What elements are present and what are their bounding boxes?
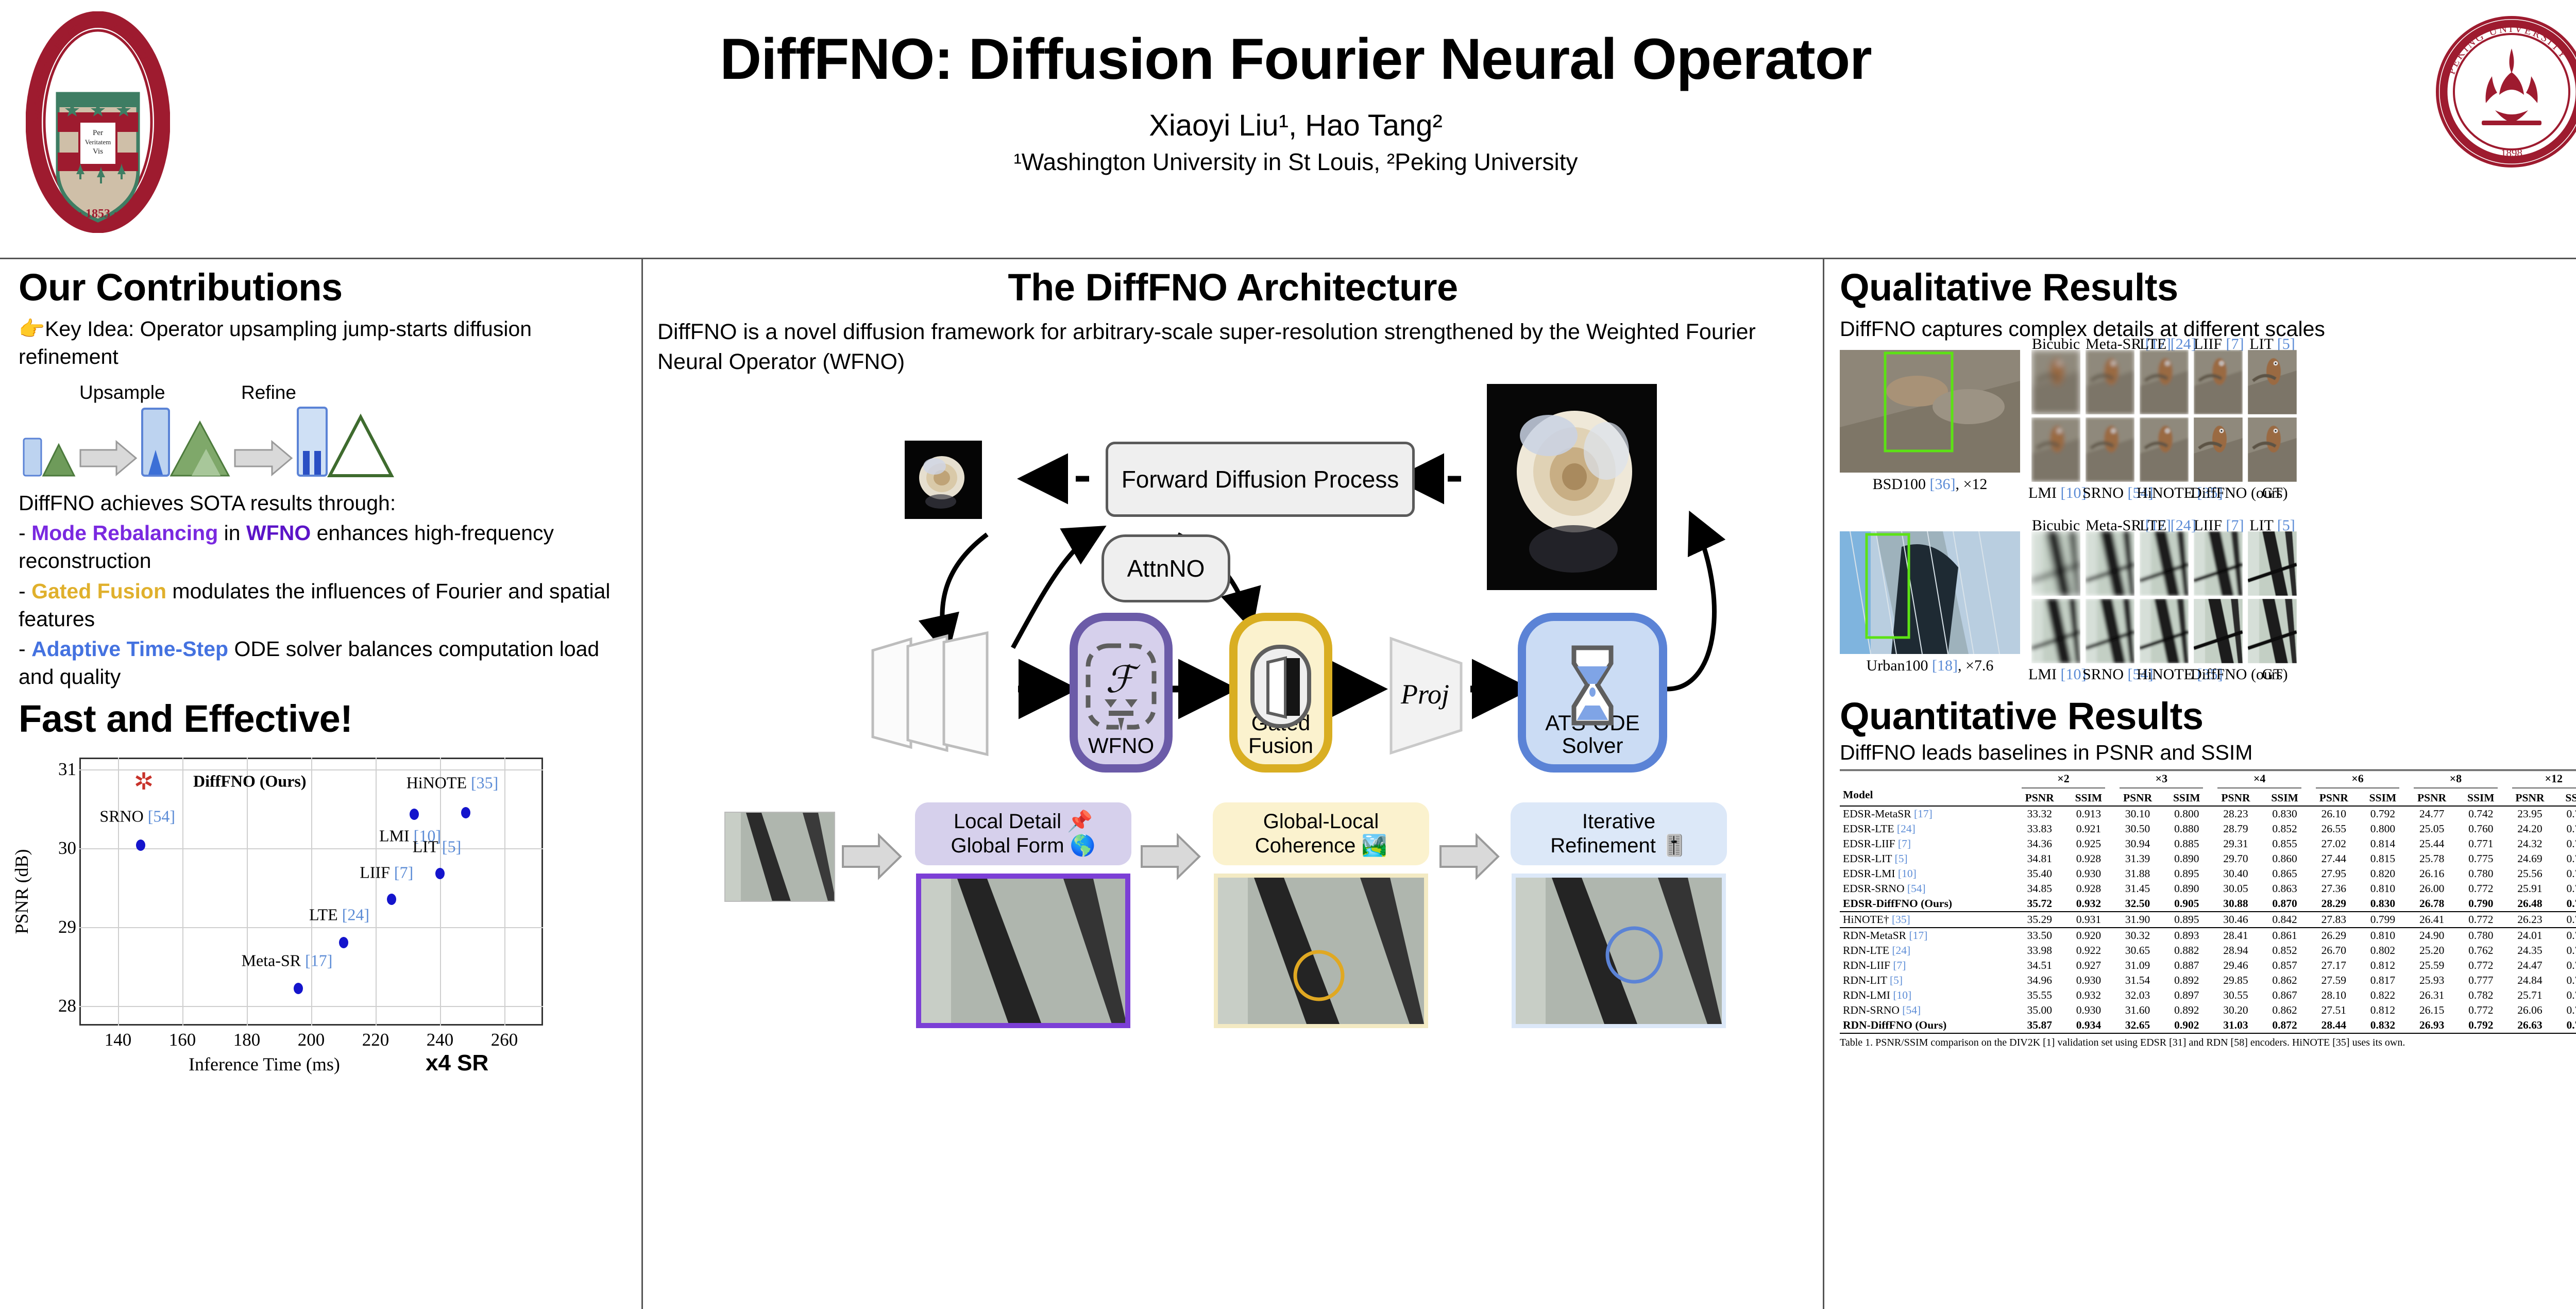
table-cell-value: 31.60 — [2112, 1003, 2163, 1018]
table-cell-value: 27.02 — [2309, 836, 2359, 851]
table-cell-value: 0.865 — [2261, 866, 2308, 881]
qualitative-heading: Qualitative Results — [1840, 268, 2576, 307]
table-cell-value: 25.05 — [2406, 821, 2457, 836]
table-cell-value: 0.861 — [2261, 928, 2308, 943]
table-cell-value: 30.65 — [2112, 943, 2163, 958]
table-cell-value: 24.84 — [2505, 973, 2555, 988]
table-cell-value: 0.832 — [2359, 1018, 2406, 1033]
chart-gridline-v — [247, 758, 248, 1026]
table-row: EDSR-DiffFNO (Ours)35.720.93232.500.9053… — [1840, 896, 2576, 912]
table-cell-value: 0.820 — [2359, 866, 2406, 881]
caption-iterative-refinement: Iterative Refinement 🎚️ — [1511, 802, 1727, 865]
table-cell-model: RDN-LTE [24] — [1840, 943, 2014, 958]
table-header-scale: ×2 — [2014, 770, 2112, 791]
qualitative-patch-label: DiffFNO (ours) — [2191, 666, 2246, 683]
table-cell-value: 27.59 — [2309, 973, 2359, 988]
architecture-diagram: Forward Diffusion Process AttnNO — [657, 380, 1808, 936]
chart-gridline-v — [504, 758, 505, 1026]
table-cell-value: 25.91 — [2505, 881, 2555, 896]
qualitative-patch-label: LMI [10] — [2028, 666, 2083, 683]
table-cell-value: 0.814 — [2359, 836, 2406, 851]
svg-text:Veritatem: Veritatem — [85, 138, 111, 146]
table-cell-value: 25.20 — [2406, 943, 2457, 958]
chart-point-label: LTE [24] — [309, 905, 369, 925]
qualitative-patch-label: HiNOTE [35] — [2137, 484, 2192, 502]
table-cell-model: RDN-LMI [10] — [1840, 988, 2014, 1003]
qualitative-patch-image — [2248, 417, 2297, 482]
table-cell-value: 35.40 — [2014, 866, 2065, 881]
table-cell-value: 27.83 — [2309, 912, 2359, 928]
qualitative-patch-image — [2194, 417, 2243, 482]
bullet-1-mid: in — [218, 521, 246, 545]
table-cell-value: 28.94 — [2210, 943, 2261, 958]
table-cell-value: 33.98 — [2014, 943, 2065, 958]
chart-corner-note: x4 SR — [426, 1050, 488, 1076]
table-cell-value: 29.31 — [2210, 836, 2261, 851]
qualitative-patch-label: DiffFNO (ours) — [2191, 484, 2246, 502]
qualitative-patch-image — [2194, 350, 2243, 414]
caption-local-detail-global-form: Local Detail 📌 Global Form 🌎 — [915, 802, 1131, 865]
qualitative-patch-label: HiNOTE [35] — [2137, 666, 2192, 683]
table-header-metric: SSIM — [2065, 791, 2112, 806]
table-cell-value: 0.799 — [2359, 912, 2406, 928]
table-cell-value: 25.59 — [2406, 958, 2457, 973]
keyword-mode-rebalancing: Mode Rebalancing — [31, 521, 218, 545]
table-cell-value: 0.792 — [2457, 1018, 2504, 1033]
chart-gridline-v — [440, 758, 441, 1026]
table-cell-value: 34.85 — [2014, 881, 2065, 896]
qualitative-patch-image — [2194, 531, 2243, 596]
svg-text:Vis: Vis — [93, 147, 103, 156]
chart-point-label: Meta-SR [17] — [242, 951, 333, 970]
qualitative-patch-image — [2140, 531, 2189, 596]
qualitative-patch-image — [2140, 350, 2189, 414]
chart-x-tick: 220 — [362, 1030, 389, 1050]
chart-y-tick: 29 — [58, 917, 76, 937]
architecture-lead-text: DiffFNO is a novel diffusion framework f… — [657, 317, 1808, 377]
table-header-scale: ×3 — [2112, 770, 2210, 791]
chart-data-point — [461, 807, 470, 818]
table-header-metric: PSNR — [2406, 791, 2457, 806]
table-cell-value: 0.880 — [2163, 821, 2210, 836]
table-cell-value: 0.852 — [2261, 821, 2308, 836]
table-cell-value: 0.930 — [2065, 973, 2112, 988]
qualitative-main-image — [1840, 531, 2020, 654]
sota-lead-text: DiffFNO achieves SOTA results through: — [19, 489, 626, 517]
table-cell-value: 0.772 — [2457, 912, 2504, 928]
table-cell-value: 24.01 — [2505, 928, 2555, 943]
table-cell-model: RDN-LIT [5] — [1840, 973, 2014, 988]
table-cell-value: 0.812 — [2359, 1003, 2406, 1018]
table-cell-value: 30.50 — [2112, 821, 2163, 836]
table-cell-value: 24.32 — [2505, 836, 2555, 851]
forward-diffusion-box[interactable]: Forward Diffusion Process — [1106, 442, 1415, 517]
table-cell-value: 24.69 — [2505, 851, 2555, 866]
keyword-adaptive-time-step: Adaptive Time-Step — [31, 637, 228, 661]
attnno-label: AttnNO — [1127, 555, 1205, 582]
table-cell-value: 0.742 — [2457, 806, 2504, 821]
table-cell-value: 34.81 — [2014, 851, 2065, 866]
table-cell-model: EDSR-SRNO [54] — [1840, 881, 2014, 896]
table-cell-value: 0.752 — [2555, 988, 2576, 1003]
table-cell-value: 0.745 — [2555, 851, 2576, 866]
chart-x-tick: 180 — [233, 1030, 261, 1050]
table-cell-value: 0.890 — [2163, 881, 2210, 896]
table-cell-value: 26.00 — [2406, 881, 2457, 896]
upsample-label: Upsample — [79, 382, 165, 404]
table-row: RDN-LIT [5]34.960.93031.540.89229.850.86… — [1840, 973, 2576, 988]
noisy-image-thumbnail — [905, 441, 982, 519]
chart-data-point — [294, 983, 303, 994]
table-cell-model: EDSR-DiffFNO (Ours) — [1840, 896, 2014, 912]
table-row: RDN-MetaSR [17]33.500.92030.320.89328.41… — [1840, 928, 2576, 943]
table-cell-value: 24.20 — [2505, 821, 2555, 836]
table-cell-value: 25.93 — [2406, 973, 2457, 988]
table-cell-value: 26.31 — [2406, 988, 2457, 1003]
table-row: EDSR-SRNO [54]34.850.92831.450.89030.050… — [1840, 881, 2576, 896]
table-cell-value: 0.792 — [2359, 806, 2406, 821]
table-cell-value: 0.893 — [2163, 928, 2210, 943]
key-idea-label: Key Idea: Operator upsampling jump-start… — [19, 317, 532, 368]
final-output-patch-image — [1512, 874, 1726, 1028]
table-header-scale: ×8 — [2406, 770, 2504, 791]
wfno-output-patch-image — [916, 874, 1130, 1028]
qualitative-patch-image — [2140, 417, 2189, 482]
chart-point-label: SRNO [54] — [99, 807, 175, 826]
poster-columns: Our Contributions 👉Key Idea: Operator up… — [0, 259, 2576, 1309]
table-cell-model: EDSR-LIT [5] — [1840, 851, 2014, 866]
table-cell-value: 30.20 — [2210, 1003, 2261, 1018]
table-cell-value: 0.772 — [2457, 1003, 2504, 1018]
table-cell-value: 28.41 — [2210, 928, 2261, 943]
table-cell-value: 31.09 — [2112, 958, 2163, 973]
table-cell-value: 29.46 — [2210, 958, 2261, 973]
poster-header: Per Veritatem Vis WASHINGTON UNIVERSITY … — [0, 0, 2576, 258]
table-cell-value: 0.732 — [2555, 943, 2576, 958]
table-header-metric: PSNR — [2210, 791, 2261, 806]
qualitative-patch-image — [2248, 531, 2297, 596]
svg-text:1898: 1898 — [2501, 147, 2522, 159]
table-cell-value: 0.932 — [2065, 896, 2112, 912]
svg-text:· 1853 ·: · 1853 · — [78, 207, 117, 221]
table-cell-value: 25.78 — [2406, 851, 2457, 866]
table-cell-value: 0.897 — [2163, 988, 2210, 1003]
table-cell-value: 29.85 — [2210, 973, 2261, 988]
table-cell-value: 0.890 — [2163, 851, 2210, 866]
caption-2-line2: Refinement 🎚️ — [1550, 834, 1687, 857]
chart-data-point — [136, 840, 145, 851]
table-header-scale: ×12 — [2505, 770, 2576, 791]
table-cell-value: 0.760 — [2457, 821, 2504, 836]
table-cell-value: 0.800 — [2359, 821, 2406, 836]
column-architecture: The DiffFNO Architecture DiffFNO is a no… — [643, 259, 1823, 1309]
table-cell-value: 0.780 — [2457, 866, 2504, 881]
chart-x-axis-label: Inference Time (ms) — [189, 1053, 340, 1075]
table-cell-model: EDSR-LMI [10] — [1840, 866, 2014, 881]
table-cell-value: 0.928 — [2065, 851, 2112, 866]
table-caption: Table 1. PSNR/SSIM comparison on the DIV… — [1840, 1037, 2576, 1049]
table-cell-value: 0.932 — [2065, 988, 2112, 1003]
washington-university-seal-icon: Per Veritatem Vis WASHINGTON UNIVERSITY … — [26, 11, 170, 233]
chart-x-tick: 240 — [427, 1030, 454, 1050]
table-cell-value: 0.760 — [2555, 881, 2576, 896]
table-cell-value: 30.46 — [2210, 912, 2261, 928]
forward-diffusion-label: Forward Diffusion Process — [1122, 465, 1399, 493]
chart-point-label: LIT [5] — [413, 837, 461, 856]
table-cell-value: 0.790 — [2555, 928, 2576, 943]
table-cell-value: 28.79 — [2210, 821, 2261, 836]
table-cell-value: 0.810 — [2359, 881, 2406, 896]
qualitative-patch-image — [2031, 417, 2080, 482]
table-cell-value: 0.895 — [2163, 866, 2210, 881]
table-cell-value: 0.905 — [2163, 896, 2210, 912]
table-cell-model: HiNOTE† [35] — [1840, 912, 2014, 928]
table-header-metric: PSNR — [2505, 791, 2555, 806]
table-cell-value: 35.55 — [2014, 988, 2065, 1003]
qualitative-patch-image — [2031, 350, 2080, 414]
table-cell-model: RDN-LIIF [7] — [1840, 958, 2014, 973]
fourier-transform-icon: ℱ — [1085, 643, 1157, 733]
chart-data-point — [435, 868, 445, 879]
table-cell-value: 0.862 — [2261, 973, 2308, 988]
table-cell-value: 26.23 — [2505, 912, 2555, 928]
chart-point-label: LIIF [7] — [360, 863, 413, 882]
table-cell-value: 32.03 — [2112, 988, 2163, 1003]
table-cell-value: 0.802 — [2359, 943, 2406, 958]
table-cell-value: 30.88 — [2210, 896, 2261, 912]
chart-gridline-v — [376, 758, 377, 1026]
table-cell-value: 0.887 — [2163, 958, 2210, 973]
column-contributions: Our Contributions 👉Key Idea: Operator up… — [0, 259, 641, 1309]
refine-label: Refine — [241, 382, 296, 404]
table-cell-model: RDN-DiffFNO (Ours) — [1840, 1018, 2014, 1033]
table-cell-value: 0.852 — [2261, 943, 2308, 958]
table-header-metric: PSNR — [2112, 791, 2163, 806]
table-cell-value: 0.934 — [2065, 1018, 2112, 1033]
table-cell-value: 24.47 — [2505, 958, 2555, 973]
table-cell-value: 0.892 — [2163, 1003, 2210, 1018]
table-cell-value: 33.50 — [2014, 928, 2065, 943]
table-header-model: Model — [1840, 770, 2014, 807]
table-row: EDSR-LIIF [7]34.360.92530.940.88529.310.… — [1840, 836, 2576, 851]
table-header-metric: SSIM — [2163, 791, 2210, 806]
table-cell-value: 0.742 — [2555, 958, 2576, 973]
wfno-box[interactable]: ℱ WFNO — [1070, 613, 1173, 773]
caption-global-local-coherence: Global-Local Coherence 🏞️ — [1213, 802, 1429, 865]
hourglass-icon — [1562, 643, 1623, 733]
table-cell-value: 0.925 — [2065, 836, 2112, 851]
table-row: RDN-LMI [10]35.550.93232.030.89730.550.8… — [1840, 988, 2576, 1003]
svg-text:Per: Per — [93, 129, 103, 137]
table-cell-value: 26.16 — [2406, 866, 2457, 881]
chart-data-point — [410, 809, 419, 820]
qualitative-patch-image — [2031, 599, 2080, 663]
table-cell-value: 0.736 — [2555, 821, 2576, 836]
qualitative-patch-image — [2086, 417, 2134, 482]
ats-ode-line2: Solver — [1562, 733, 1623, 758]
table-row: RDN-SRNO [54]35.000.93031.600.89230.200.… — [1840, 1003, 2576, 1018]
table-cell-value: 0.842 — [2261, 912, 2308, 928]
table-cell-value: 35.00 — [2014, 1003, 2065, 1018]
table-cell-value: 30.05 — [2210, 881, 2261, 896]
table-cell-value: 0.800 — [2163, 806, 2210, 821]
table-cell-value: 26.48 — [2505, 896, 2555, 912]
table-cell-value: 0.772 — [2457, 958, 2504, 973]
gated-fusion-box[interactable]: Gated Fusion — [1229, 613, 1332, 773]
table-cell-value: 26.10 — [2309, 806, 2359, 821]
table-cell-value: 0.882 — [2163, 943, 2210, 958]
table-cell-value: 34.96 — [2014, 973, 2065, 988]
chart-gridline-v — [182, 758, 183, 1026]
proj-box[interactable]: Proj — [1374, 627, 1477, 761]
bullet-adaptive-time-step: - Adaptive Time-Step ODE solver balances… — [19, 635, 626, 691]
table-cell-value: 0.743 — [2555, 836, 2576, 851]
table-cell-value: 26.63 — [2505, 1018, 2555, 1033]
table-cell-value: 0.772 — [2457, 881, 2504, 896]
table-cell-value: 27.95 — [2309, 866, 2359, 881]
table-cell-model: RDN-SRNO [54] — [1840, 1003, 2014, 1018]
chart-x-tick: 260 — [491, 1030, 518, 1050]
table-cell-value: 0.782 — [2457, 988, 2504, 1003]
encoder-feature-stack-icon — [863, 630, 1018, 759]
quantitative-results-table: Model×2×3×4×6×8×12PSNRSSIMPSNRSSIMPSNRSS… — [1840, 769, 2576, 1034]
qualitative-patch-image — [2248, 350, 2297, 414]
ats-ode-solver-box[interactable]: ATS-ODE Solver — [1518, 613, 1667, 773]
chart-y-tick: 28 — [58, 996, 76, 1016]
table-cell-value: 0.747 — [2555, 973, 2576, 988]
table-cell-value: 0.860 — [2261, 851, 2308, 866]
architecture-heading: The DiffFNO Architecture — [657, 268, 1808, 307]
table-cell-value: 26.41 — [2406, 912, 2457, 928]
qualitative-main-caption: BSD100 [36], ×12 — [1840, 476, 2020, 493]
wfno-label: WFNO — [1088, 734, 1154, 757]
table-cell-value: 0.921 — [2065, 821, 2112, 836]
table-cell-value: 0.902 — [2163, 1018, 2210, 1033]
title-block: DiffFNO: Diffusion Fourier Neural Operat… — [191, 28, 2401, 176]
chart-point-label: HiNOTE [35] — [406, 774, 499, 793]
qualitative-patch-label: GT — [2245, 666, 2300, 683]
table-header-metric: SSIM — [2457, 791, 2504, 806]
table-cell-value: 0.862 — [2261, 1003, 2308, 1018]
qualitative-patch-image — [2031, 531, 2080, 596]
table-cell-value: 28.23 — [2210, 806, 2261, 821]
psnr-vs-time-chart: 28293031140160180200220240260✲DiffFNO (O… — [19, 743, 606, 1083]
table-cell-value: 0.777 — [2457, 973, 2504, 988]
table-cell-value: 27.17 — [2309, 958, 2359, 973]
page-title: DiffFNO: Diffusion Fourier Neural Operat… — [191, 28, 2401, 91]
table-cell-value: 28.29 — [2309, 896, 2359, 912]
table-cell-value: 0.922 — [2065, 943, 2112, 958]
bullet-dash-1: - — [19, 521, 26, 545]
table-cell-value: 0.775 — [2555, 896, 2576, 912]
qualitative-patch-image — [2140, 599, 2189, 663]
table-row: RDN-DiffFNO (Ours)35.870.93432.650.90231… — [1840, 1018, 2576, 1033]
table-cell-value: 0.857 — [2261, 958, 2308, 973]
gated-fusion-output-patch-image — [1214, 874, 1428, 1028]
table-cell-value: 0.720 — [2555, 806, 2576, 821]
table-cell-value: 30.40 — [2210, 866, 2261, 881]
table-cell-value: 0.867 — [2261, 988, 2308, 1003]
proj-label: Proj — [1401, 678, 1449, 710]
table-cell-value: 25.71 — [2505, 988, 2555, 1003]
bullet-dash-2: - — [19, 579, 26, 603]
chart-x-tick: 200 — [298, 1030, 325, 1050]
table-cell-value: 0.892 — [2163, 973, 2210, 988]
peking-university-seal-icon: PEKING UNIVERSITY 1898 — [2434, 14, 2576, 169]
caption-1-line1: Global-Local — [1263, 810, 1379, 833]
chart-ours-star-icon: ✲ — [134, 767, 154, 795]
table-cell-value: 0.895 — [2163, 912, 2210, 928]
ground-truth-image-thumbnail — [1487, 384, 1657, 590]
table-cell-value: 0.780 — [2457, 928, 2504, 943]
table-cell-value: 0.913 — [2065, 806, 2112, 821]
caption-1-line2: Coherence 🏞️ — [1255, 834, 1387, 857]
table-cell-value: 30.94 — [2112, 836, 2163, 851]
table-cell-value: 28.44 — [2309, 1018, 2359, 1033]
table-row: HiNOTE† [35]35.290.93131.900.89530.460.8… — [1840, 912, 2576, 928]
table-cell-model: EDSR-MetaSR [17] — [1840, 806, 2014, 821]
table-cell-value: 0.927 — [2065, 958, 2112, 973]
table-cell-value: 26.15 — [2406, 1003, 2457, 1018]
table-cell-value: 0.930 — [2065, 1003, 2112, 1018]
table-row: RDN-LTE [24]33.980.92230.650.88228.940.8… — [1840, 943, 2576, 958]
table-cell-value: 27.51 — [2309, 1003, 2359, 1018]
table-cell-value: 0.762 — [2555, 1003, 2576, 1018]
chart-y-axis-label: PSNR (dB) — [11, 830, 32, 953]
chart-data-point — [339, 937, 348, 948]
table-header-metric: PSNR — [2014, 791, 2065, 806]
table-row: EDSR-LTE [24]33.830.92130.500.88028.790.… — [1840, 821, 2576, 836]
table-cell-value: 0.732 — [2555, 912, 2576, 928]
authors-line: Xiaoyi Liu¹, Hao Tang² — [191, 108, 2401, 143]
table-cell-value: 0.920 — [2065, 928, 2112, 943]
gated-fusion-line2: Fusion — [1248, 733, 1313, 758]
chart-data-point — [387, 894, 396, 905]
lr-patch-image — [724, 812, 835, 902]
table-cell-value: 31.88 — [2112, 866, 2163, 881]
table-cell-value: 25.56 — [2505, 866, 2555, 881]
table-cell-value: 30.55 — [2210, 988, 2261, 1003]
table-cell-value: 0.762 — [2457, 943, 2504, 958]
qualitative-patch-label: SRNO [54] — [2082, 484, 2138, 502]
qualitative-patch-image — [2194, 599, 2243, 663]
table-header-metric: PSNR — [2309, 791, 2359, 806]
table-cell-value: 0.930 — [2065, 866, 2112, 881]
table-cell-value: 28.10 — [2309, 988, 2359, 1003]
table-cell-value: 0.928 — [2065, 881, 2112, 896]
qualitative-patch-label: SRNO [54] — [2082, 666, 2138, 683]
chart-point-label: DiffFNO (Ours) — [193, 771, 307, 791]
table-cell-value: 26.55 — [2309, 821, 2359, 836]
caption-0-line2: Global Form 🌎 — [951, 834, 1096, 857]
table-cell-value: 0.863 — [2261, 881, 2308, 896]
qualitative-main-image — [1840, 350, 2020, 473]
qualitative-patch-image — [2248, 599, 2297, 663]
table-cell-value: 26.06 — [2505, 1003, 2555, 1018]
table-cell-value: 26.70 — [2309, 943, 2359, 958]
attnno-box[interactable]: AttnNO — [1101, 534, 1230, 602]
chart-x-tick: 160 — [169, 1030, 196, 1050]
key-idea-text: 👉Key Idea: Operator upsampling jump-star… — [19, 315, 626, 371]
table-cell-value: 24.35 — [2505, 943, 2555, 958]
chart-y-tick: 30 — [58, 838, 76, 859]
chart-gridline-v — [118, 758, 119, 1026]
gate-door-icon — [1247, 643, 1314, 733]
table-cell-value: 0.855 — [2261, 836, 2308, 851]
table-row: EDSR-MetaSR [17]33.320.91330.100.80028.2… — [1840, 806, 2576, 821]
table-cell-value: 0.830 — [2359, 896, 2406, 912]
table-cell-value: 30.32 — [2112, 928, 2163, 943]
